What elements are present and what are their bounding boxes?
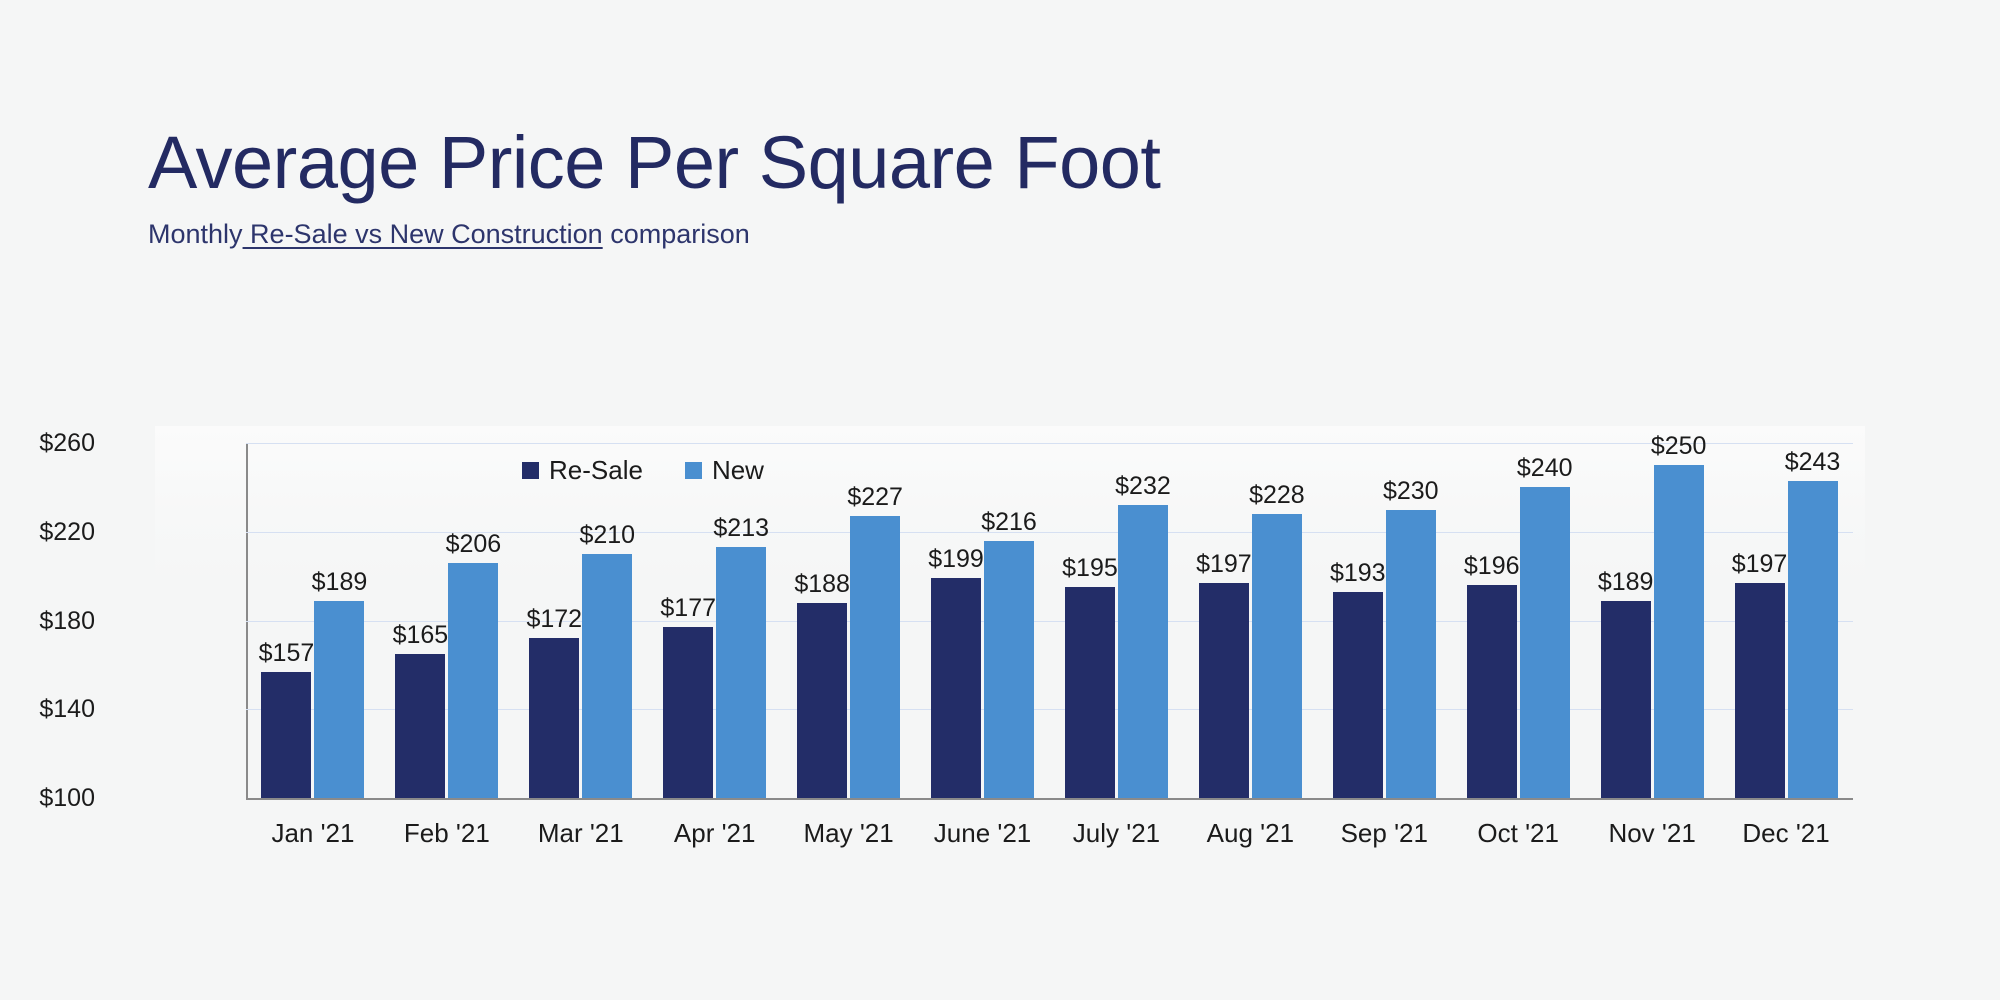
subtitle-prefix: Monthly xyxy=(148,219,243,249)
x-axis-tick-label: May '21 xyxy=(782,818,916,848)
bar-new[interactable]: $216 xyxy=(984,541,1034,798)
bar-value-label: $240 xyxy=(1517,456,1573,481)
bar-value-label: $199 xyxy=(928,547,984,572)
y-axis-tick-label: $140 xyxy=(0,697,95,722)
legend-label-resale: Re-Sale xyxy=(549,457,643,483)
bar-value-label: $206 xyxy=(446,532,502,557)
bar-resale[interactable]: $193 xyxy=(1333,592,1383,798)
x-axis-tick-label: Apr '21 xyxy=(648,818,782,848)
bar-value-label: $157 xyxy=(259,641,315,666)
bar-value-label: $189 xyxy=(312,570,368,595)
bar-group: $197$243 xyxy=(1735,443,1838,798)
bar-value-label: $232 xyxy=(1115,474,1171,499)
bar-value-label: $230 xyxy=(1383,479,1439,504)
bar-new[interactable]: $228 xyxy=(1252,514,1302,798)
x-axis-tick-label: Jan '21 xyxy=(246,818,380,848)
x-axis: Jan '21Feb '21Mar '21Apr '21May '21June … xyxy=(246,818,1853,858)
bars-layer: $157$189$165$206$172$210$177$213$188$227… xyxy=(246,443,1853,798)
bar-resale[interactable]: $189 xyxy=(1601,601,1651,798)
bar-new[interactable]: $230 xyxy=(1386,510,1436,798)
x-axis-tick-label: June '21 xyxy=(916,818,1050,848)
bar-value-label: $195 xyxy=(1062,556,1118,581)
bar-resale[interactable]: $195 xyxy=(1065,587,1115,798)
legend-label-new: New xyxy=(712,457,764,483)
bar-value-label: $165 xyxy=(393,623,449,648)
bar-resale[interactable]: $196 xyxy=(1467,585,1517,798)
bar-value-label: $216 xyxy=(981,510,1037,535)
bar-new[interactable]: $232 xyxy=(1118,505,1168,798)
y-axis-tick-label: $180 xyxy=(0,609,95,634)
bar-new[interactable]: $227 xyxy=(850,516,900,798)
bar-value-label: $250 xyxy=(1651,434,1707,459)
y-axis-tick-label: $220 xyxy=(0,520,95,545)
y-axis-tick-label: $100 xyxy=(0,786,95,811)
bar-group: $177$213 xyxy=(663,443,766,798)
bar-value-label: $196 xyxy=(1464,554,1520,579)
bar-value-label: $193 xyxy=(1330,561,1386,586)
bar-value-label: $243 xyxy=(1785,450,1841,475)
bar-group: $188$227 xyxy=(797,443,900,798)
bar-value-label: $228 xyxy=(1249,483,1305,508)
bar-value-label: $197 xyxy=(1732,552,1788,577)
bar-value-label: $177 xyxy=(660,596,716,621)
bar-group: $193$230 xyxy=(1333,443,1436,798)
x-axis-tick-label: Aug '21 xyxy=(1183,818,1317,848)
subtitle-suffix: comparison xyxy=(603,219,750,249)
x-axis-tick-label: July '21 xyxy=(1050,818,1184,848)
bar-resale[interactable]: $157 xyxy=(261,672,311,798)
bar-resale[interactable]: $177 xyxy=(663,627,713,798)
bar-resale[interactable]: $199 xyxy=(931,578,981,798)
bar-new[interactable]: $213 xyxy=(716,547,766,798)
bar-new[interactable]: $240 xyxy=(1520,487,1570,798)
bar-group: $196$240 xyxy=(1467,443,1570,798)
x-axis-tick-label: Mar '21 xyxy=(514,818,648,848)
bar-new[interactable]: $243 xyxy=(1788,481,1838,798)
x-axis-tick-label: Oct '21 xyxy=(1451,818,1585,848)
bar-group: $197$228 xyxy=(1199,443,1302,798)
legend-swatch-resale-icon xyxy=(522,462,539,479)
bar-group: $195$232 xyxy=(1065,443,1168,798)
bar-value-label: $188 xyxy=(794,572,850,597)
bar-resale[interactable]: $188 xyxy=(797,603,847,798)
legend-item-resale[interactable]: Re-Sale xyxy=(522,457,643,483)
y-axis-tick-label: $260 xyxy=(0,431,95,456)
x-axis-tick-label: Dec '21 xyxy=(1719,818,1853,848)
chart-header: Average Price Per Square Foot Monthly Re… xyxy=(148,120,1548,250)
bar-resale[interactable]: $197 xyxy=(1735,583,1785,798)
bar-value-label: $227 xyxy=(847,485,903,510)
x-axis-tick-label: Sep '21 xyxy=(1317,818,1451,848)
legend-item-new[interactable]: New xyxy=(685,457,764,483)
page-title: Average Price Per Square Foot xyxy=(148,120,1548,206)
bar-resale[interactable]: $165 xyxy=(395,654,445,798)
bar-resale[interactable]: $172 xyxy=(529,638,579,798)
x-axis-line xyxy=(246,798,1853,800)
bar-group: $165$206 xyxy=(395,443,498,798)
x-axis-tick-label: Nov '21 xyxy=(1585,818,1719,848)
bar-value-label: $172 xyxy=(526,607,582,632)
bar-value-label: $210 xyxy=(579,523,635,548)
page-subtitle: Monthly Re-Sale vs New Construction comp… xyxy=(148,218,1548,250)
bar-new[interactable]: $189 xyxy=(314,601,364,798)
bar-group: $199$216 xyxy=(931,443,1034,798)
bar-resale[interactable]: $197 xyxy=(1199,583,1249,798)
legend-swatch-new-icon xyxy=(685,462,702,479)
bar-new[interactable]: $250 xyxy=(1654,465,1704,798)
bar-group: $157$189 xyxy=(261,443,364,798)
x-axis-tick-label: Feb '21 xyxy=(380,818,514,848)
bar-new[interactable]: $206 xyxy=(448,563,498,798)
bar-value-label: $189 xyxy=(1598,570,1654,595)
bar-group: $172$210 xyxy=(529,443,632,798)
bar-value-label: $213 xyxy=(713,516,769,541)
subtitle-underlined: Re-Sale vs New Construction xyxy=(243,219,603,249)
bar-new[interactable]: $210 xyxy=(582,554,632,798)
chart-legend: Re-Sale New xyxy=(522,457,764,483)
bar-group: $189$250 xyxy=(1601,443,1704,798)
bar-value-label: $197 xyxy=(1196,552,1252,577)
y-axis: $260$220$180$140$100 xyxy=(0,426,95,806)
